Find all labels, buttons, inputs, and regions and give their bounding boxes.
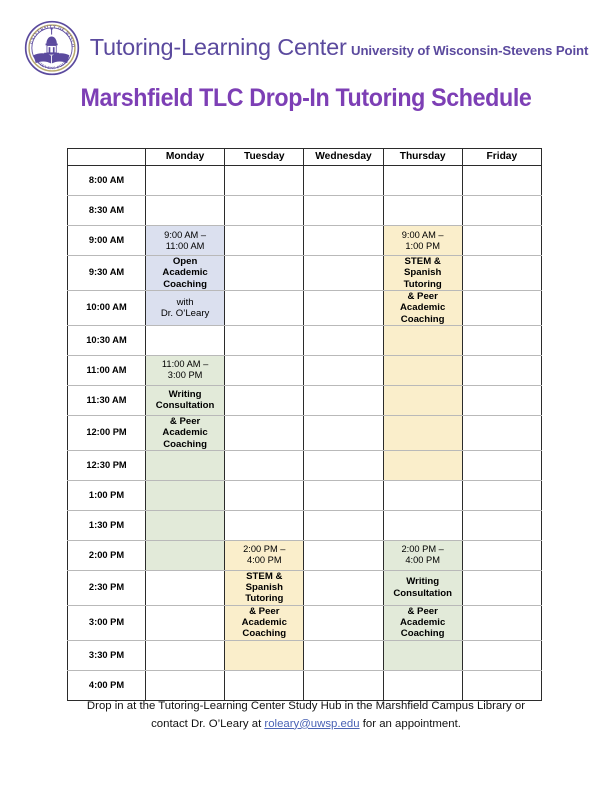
cell-thu-300pm: & PeerAcademicCoaching xyxy=(383,605,462,640)
cell-mon-1030am xyxy=(146,325,225,355)
cell-line: 3:00 PM xyxy=(148,370,222,381)
cell-line: Writing xyxy=(148,389,222,400)
cell-thu-930am: STEM &SpanishTutoring xyxy=(383,256,462,291)
cell-line: 1:00 PM xyxy=(386,241,460,252)
cell-mon-200pm xyxy=(146,540,225,570)
cell-line: Academic xyxy=(386,617,460,628)
cell-tue-1000am xyxy=(225,290,304,325)
wordmark-subtitle: University of Wisconsin-Stevens Point xyxy=(351,43,588,58)
header-friday: Friday xyxy=(462,149,541,166)
cell-tue-130pm xyxy=(225,510,304,540)
cell-thu-400pm xyxy=(383,670,462,700)
cell-wed-200pm xyxy=(304,540,383,570)
cell-fri-330pm xyxy=(462,640,541,670)
email-link[interactable]: roleary@uwsp.edu xyxy=(264,718,359,730)
uwsp-seal-icon: UNIVERSITY OF WISCONSIN STEVENS POINT xyxy=(24,20,80,76)
cell-line: 4:00 PM xyxy=(386,555,460,566)
cell-line: Spanish xyxy=(227,582,301,593)
cell-thu-230pm: WritingConsultation xyxy=(383,570,462,605)
cell-wed-1030am xyxy=(304,325,383,355)
cell-wed-1130am xyxy=(304,385,383,415)
cell-tue-330pm xyxy=(225,640,304,670)
cell-mon-400pm xyxy=(146,670,225,700)
cell-tue-800am xyxy=(225,166,304,196)
cell-thu-830am xyxy=(383,196,462,226)
cell-tue-1130am xyxy=(225,385,304,415)
time-label-800am: 8:00 AM xyxy=(68,166,146,196)
schedule-table-wrap: Monday Tuesday Wednesday Thursday Friday… xyxy=(67,148,541,701)
table-row: 1:30 PM xyxy=(68,510,542,540)
cell-fri-100pm xyxy=(462,480,541,510)
time-label-830am: 8:30 AM xyxy=(68,196,146,226)
table-row: 12:30 PM xyxy=(68,450,542,480)
cell-line: 2:00 PM – xyxy=(386,544,460,555)
cell-mon-900am: 9:00 AM –11:00 AM xyxy=(146,226,225,256)
cell-mon-830am xyxy=(146,196,225,226)
cell-line: Dr. O’Leary xyxy=(148,308,222,319)
cell-tue-100pm xyxy=(225,480,304,510)
cell-line: & Peer xyxy=(227,606,301,617)
cell-fri-400pm xyxy=(462,670,541,700)
cell-thu-900am: 9:00 AM –1:00 PM xyxy=(383,226,462,256)
cell-mon-1200pm: & PeerAcademicCoaching xyxy=(146,415,225,450)
cell-thu-130pm xyxy=(383,510,462,540)
table-row: 9:30 AMOpenAcademicCoachingSTEM &Spanish… xyxy=(68,256,542,291)
cell-tue-900am xyxy=(225,226,304,256)
cell-mon-1000am: withDr. O’Leary xyxy=(146,290,225,325)
cell-wed-1100am xyxy=(304,355,383,385)
cell-line: with xyxy=(148,297,222,308)
footer-note: Drop in at the Tutoring-Learning Center … xyxy=(0,698,612,733)
cell-fri-930am xyxy=(462,256,541,291)
time-label-100pm: 1:00 PM xyxy=(68,480,146,510)
wordmark-title: Tutoring-Learning Center xyxy=(90,34,347,60)
time-label-1230pm: 12:30 PM xyxy=(68,450,146,480)
table-row: 10:30 AM xyxy=(68,325,542,355)
cell-wed-300pm xyxy=(304,605,383,640)
cell-wed-1000am xyxy=(304,290,383,325)
cell-mon-1230pm xyxy=(146,450,225,480)
footer-text-after: for an appointment. xyxy=(360,718,461,730)
cell-fri-300pm xyxy=(462,605,541,640)
time-label-200pm: 2:00 PM xyxy=(68,540,146,570)
time-label-1200pm: 12:00 PM xyxy=(68,415,146,450)
cell-mon-230pm xyxy=(146,570,225,605)
cell-tue-1200pm xyxy=(225,415,304,450)
cell-fri-230pm xyxy=(462,570,541,605)
header-tuesday: Tuesday xyxy=(225,149,304,166)
table-row: 1:00 PM xyxy=(68,480,542,510)
cell-thu-1230pm xyxy=(383,450,462,480)
cell-line: 2:00 PM – xyxy=(227,544,301,555)
cell-wed-800am xyxy=(304,166,383,196)
cell-wed-100pm xyxy=(304,480,383,510)
time-label-300pm: 3:00 PM xyxy=(68,605,146,640)
cell-thu-1000am: & PeerAcademicCoaching xyxy=(383,290,462,325)
schedule-body: 8:00 AM8:30 AM9:00 AM9:00 AM –11:00 AM9:… xyxy=(68,166,542,701)
cell-mon-130pm xyxy=(146,510,225,540)
cell-mon-330pm xyxy=(146,640,225,670)
table-row: 12:00 PM& PeerAcademicCoaching xyxy=(68,415,542,450)
time-label-130pm: 1:30 PM xyxy=(68,510,146,540)
cell-fri-1230pm xyxy=(462,450,541,480)
cell-thu-1130am xyxy=(383,385,462,415)
table-row: 2:30 PMSTEM &SpanishTutoringWritingConsu… xyxy=(68,570,542,605)
table-row: 2:00 PM2:00 PM –4:00 PM2:00 PM –4:00 PM xyxy=(68,540,542,570)
cell-line: Academic xyxy=(148,427,222,438)
cell-fri-1030am xyxy=(462,325,541,355)
table-header-row: Monday Tuesday Wednesday Thursday Friday xyxy=(68,149,542,166)
cell-tue-1100am xyxy=(225,355,304,385)
cell-tue-400pm xyxy=(225,670,304,700)
cell-wed-230pm xyxy=(304,570,383,605)
table-row: 11:00 AM11:00 AM –3:00 PM xyxy=(68,355,542,385)
cell-fri-1100am xyxy=(462,355,541,385)
page-title: Marshfield TLC Drop-In Tutoring Schedule xyxy=(21,84,590,113)
cell-line: & Peer xyxy=(386,606,460,617)
cell-mon-800am xyxy=(146,166,225,196)
cell-fri-900am xyxy=(462,226,541,256)
cell-mon-100pm xyxy=(146,480,225,510)
cell-line: Coaching xyxy=(148,439,222,450)
time-label-1100am: 11:00 AM xyxy=(68,355,146,385)
cell-line: Open xyxy=(148,256,222,267)
cell-line: 9:00 AM – xyxy=(148,230,222,241)
cell-fri-800am xyxy=(462,166,541,196)
cell-line: Consultation xyxy=(386,588,460,599)
header-wednesday: Wednesday xyxy=(304,149,383,166)
cell-fri-130pm xyxy=(462,510,541,540)
cell-line: 11:00 AM xyxy=(148,241,222,252)
cell-line: & Peer xyxy=(148,416,222,427)
cell-thu-330pm xyxy=(383,640,462,670)
cell-line: Spanish xyxy=(386,267,460,278)
cell-wed-400pm xyxy=(304,670,383,700)
cell-thu-1200pm xyxy=(383,415,462,450)
cell-line: Coaching xyxy=(386,628,460,639)
cell-mon-1130am: WritingConsultation xyxy=(146,385,225,415)
cell-tue-230pm: STEM &SpanishTutoring xyxy=(225,570,304,605)
cell-thu-800am xyxy=(383,166,462,196)
cell-fri-830am xyxy=(462,196,541,226)
cell-thu-1100am xyxy=(383,355,462,385)
cell-tue-200pm: 2:00 PM –4:00 PM xyxy=(225,540,304,570)
cell-wed-1200pm xyxy=(304,415,383,450)
cell-line: Academic xyxy=(386,302,460,313)
cell-line: Coaching xyxy=(386,314,460,325)
cell-line: STEM & xyxy=(227,571,301,582)
time-label-330pm: 3:30 PM xyxy=(68,640,146,670)
cell-tue-930am xyxy=(225,256,304,291)
table-row: 3:00 PM& PeerAcademicCoaching& PeerAcade… xyxy=(68,605,542,640)
cell-mon-930am: OpenAcademicCoaching xyxy=(146,256,225,291)
cell-mon-300pm xyxy=(146,605,225,640)
wordmark: Tutoring-Learning Center University of W… xyxy=(90,36,589,60)
cell-line: Writing xyxy=(386,576,460,587)
cell-fri-1130am xyxy=(462,385,541,415)
cell-thu-100pm xyxy=(383,480,462,510)
cell-wed-830am xyxy=(304,196,383,226)
time-label-930am: 9:30 AM xyxy=(68,256,146,291)
cell-tue-1230pm xyxy=(225,450,304,480)
cell-line: Coaching xyxy=(227,628,301,639)
cell-line: 9:00 AM – xyxy=(386,230,460,241)
cell-line: Tutoring xyxy=(386,279,460,290)
header-monday: Monday xyxy=(146,149,225,166)
header-corner xyxy=(68,149,146,166)
table-row: 3:30 PM xyxy=(68,640,542,670)
table-row: 8:30 AM xyxy=(68,196,542,226)
cell-wed-1230pm xyxy=(304,450,383,480)
header-thursday: Thursday xyxy=(383,149,462,166)
table-row: 4:00 PM xyxy=(68,670,542,700)
time-label-1000am: 10:00 AM xyxy=(68,290,146,325)
time-label-400pm: 4:00 PM xyxy=(68,670,146,700)
cell-fri-1000am xyxy=(462,290,541,325)
cell-fri-200pm xyxy=(462,540,541,570)
cell-wed-930am xyxy=(304,256,383,291)
cell-line: Tutoring xyxy=(227,593,301,604)
time-label-900am: 9:00 AM xyxy=(68,226,146,256)
cell-thu-200pm: 2:00 PM –4:00 PM xyxy=(383,540,462,570)
table-row: 9:00 AM9:00 AM –11:00 AM9:00 AM –1:00 PM xyxy=(68,226,542,256)
table-row: 11:30 AMWritingConsultation xyxy=(68,385,542,415)
time-label-1030am: 10:30 AM xyxy=(68,325,146,355)
time-label-1130am: 11:30 AM xyxy=(68,385,146,415)
cell-line: Academic xyxy=(227,617,301,628)
time-label-230pm: 2:30 PM xyxy=(68,570,146,605)
cell-wed-130pm xyxy=(304,510,383,540)
cell-wed-330pm xyxy=(304,640,383,670)
schedule-page: UNIVERSITY OF WISCONSIN STEVENS POINT Tu… xyxy=(0,0,612,792)
cell-line: 11:00 AM – xyxy=(148,359,222,370)
cell-mon-1100am: 11:00 AM –3:00 PM xyxy=(146,355,225,385)
cell-tue-830am xyxy=(225,196,304,226)
cell-tue-1030am xyxy=(225,325,304,355)
cell-line: Academic xyxy=(148,267,222,278)
table-row: 10:00 AMwithDr. O’Leary& PeerAcademicCoa… xyxy=(68,290,542,325)
cell-line: STEM & xyxy=(386,256,460,267)
cell-line: & Peer xyxy=(386,291,460,302)
cell-line: Coaching xyxy=(148,279,222,290)
schedule-table: Monday Tuesday Wednesday Thursday Friday… xyxy=(67,148,542,701)
table-row: 8:00 AM xyxy=(68,166,542,196)
cell-fri-1200pm xyxy=(462,415,541,450)
cell-wed-900am xyxy=(304,226,383,256)
cell-thu-1030am xyxy=(383,325,462,355)
cell-line: 4:00 PM xyxy=(227,555,301,566)
masthead: UNIVERSITY OF WISCONSIN STEVENS POINT Tu… xyxy=(0,0,612,70)
cell-tue-300pm: & PeerAcademicCoaching xyxy=(225,605,304,640)
cell-line: Consultation xyxy=(148,400,222,411)
